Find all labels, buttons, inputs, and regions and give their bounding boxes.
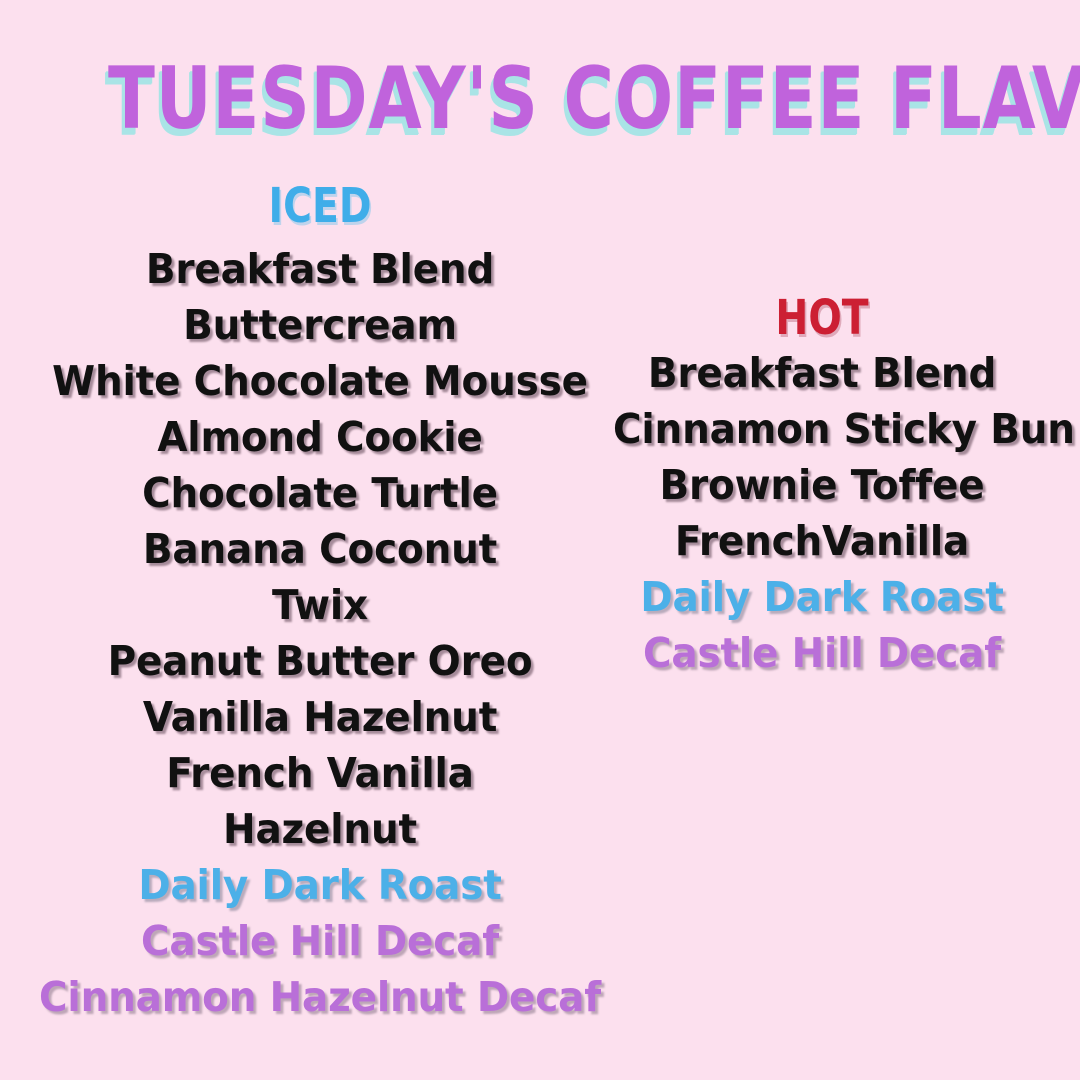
section-header-hot: HOT <box>642 294 1003 342</box>
flavor-item: Peanut Butter Oreo <box>35 633 605 689</box>
flavor-item: FrenchVanilla <box>613 513 1031 569</box>
flavor-item: Breakfast Blend <box>613 345 1031 401</box>
page-title: TUESDAY'S COFFEE FLAVORS <box>108 56 972 142</box>
flavor-item: Almond Cookie <box>35 409 605 465</box>
flavor-item: Vanilla Hazelnut <box>35 689 605 745</box>
flavor-item: Banana Coconut <box>35 521 605 577</box>
flavor-item: French Vanilla <box>35 745 605 801</box>
flavor-list-hot: Breakfast BlendCinnamon Sticky BunBrowni… <box>602 345 1042 681</box>
flavor-list-iced: Breakfast BlendButtercreamWhite Chocolat… <box>20 241 620 1025</box>
flavor-item: Castle Hill Decaf <box>613 625 1031 681</box>
flavor-item: Cinnamon Sticky Bun <box>613 401 1031 457</box>
coffee-flavors-poster: TUESDAY'S COFFEE FLAVORS ICED Breakfast … <box>0 0 1080 1080</box>
flavor-item: Chocolate Turtle <box>35 465 605 521</box>
section-header-iced: ICED <box>58 182 583 230</box>
flavor-item: Buttercream <box>35 297 605 353</box>
flavor-item: White Chocolate Mousse <box>35 353 605 409</box>
flavor-item: Daily Dark Roast <box>35 857 605 913</box>
flavor-item: Daily Dark Roast <box>613 569 1031 625</box>
flavor-item: Castle Hill Decaf <box>35 913 605 969</box>
flavor-item: Brownie Toffee <box>613 457 1031 513</box>
flavor-item: Twix <box>35 577 605 633</box>
flavor-item: Cinnamon Hazelnut Decaf <box>35 969 605 1025</box>
flavor-item: Breakfast Blend <box>35 241 605 297</box>
flavor-item: Hazelnut <box>35 801 605 857</box>
